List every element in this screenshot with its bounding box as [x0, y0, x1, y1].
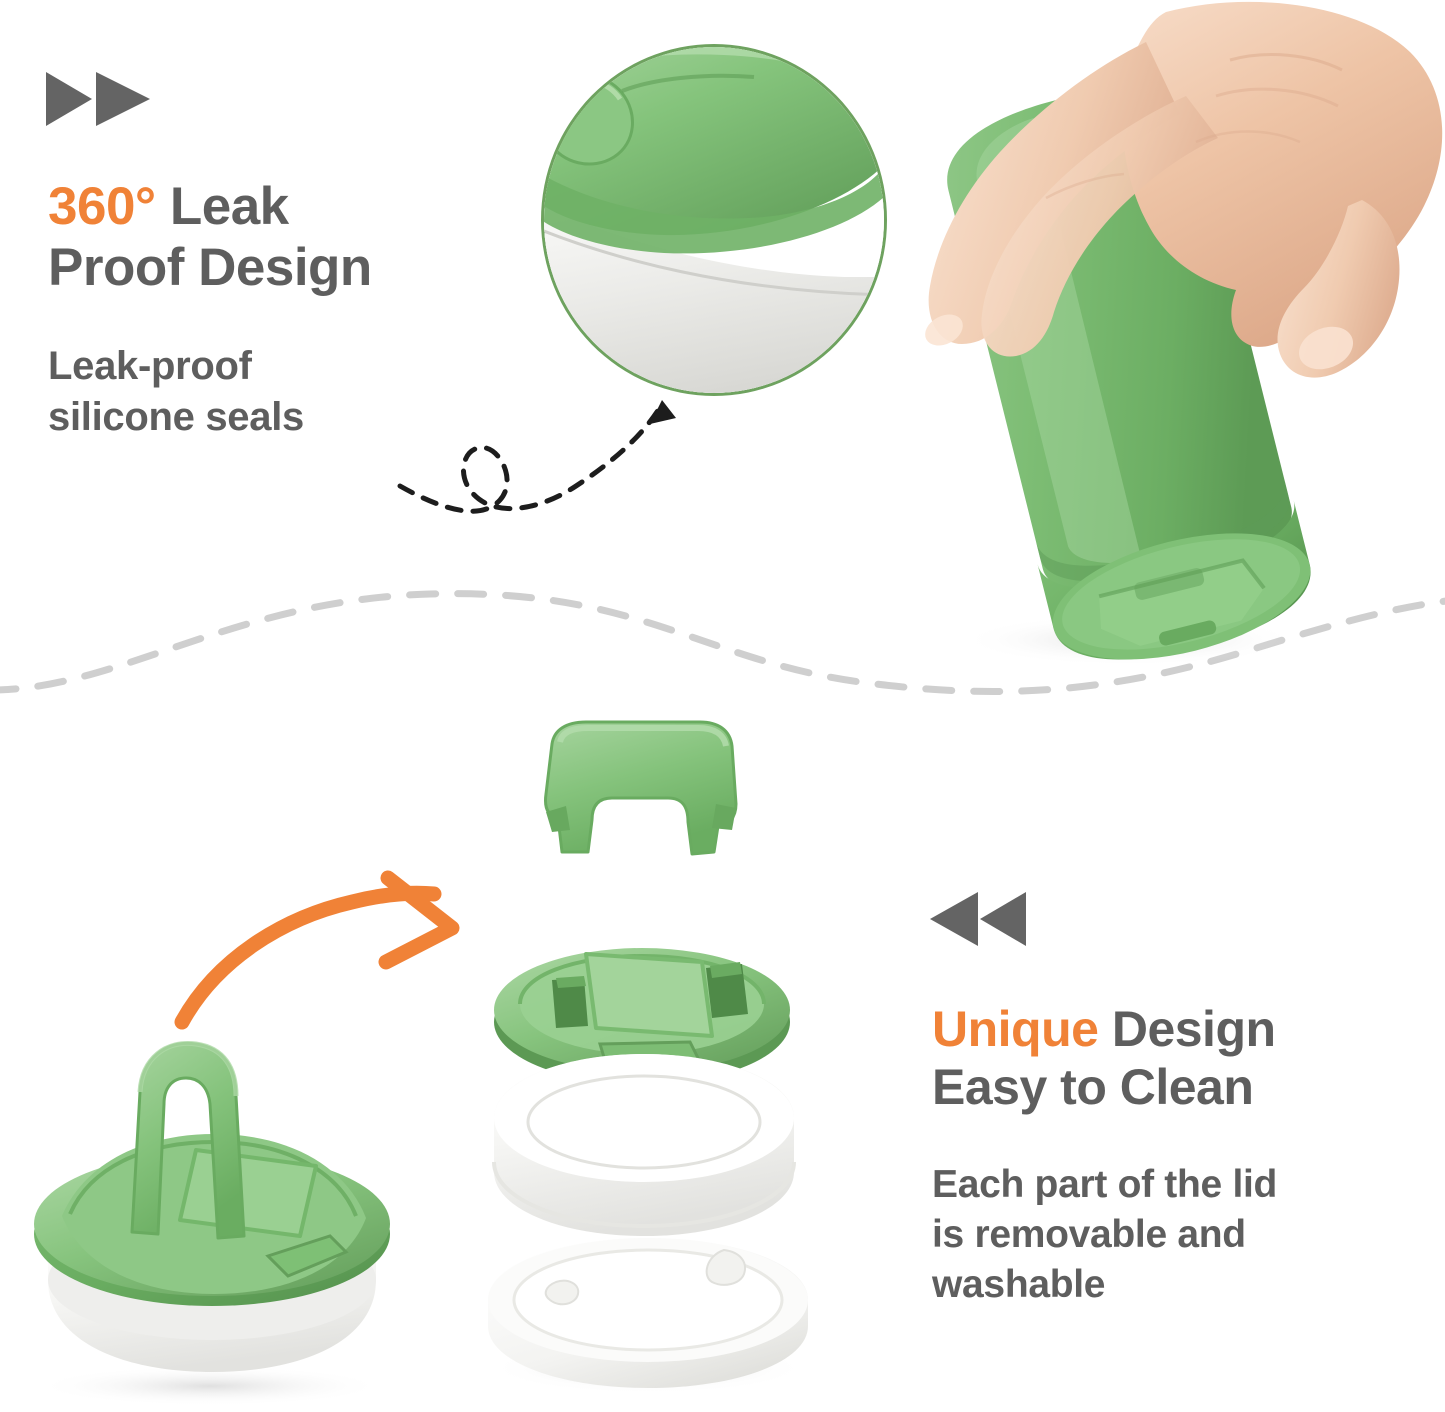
- double-chevron-right-glyph: [46, 70, 152, 128]
- unique-design-text-block: Unique Design Easy to Clean Each part of…: [932, 1000, 1432, 1310]
- unique-headline-accent: Unique: [932, 1001, 1098, 1057]
- closeup-lid-seal-illustration: [544, 47, 884, 393]
- silicone-gasket-part: [488, 1238, 808, 1394]
- lid-disc-part: [494, 948, 790, 1084]
- leakproof-headline-accent: 360°: [48, 177, 156, 236]
- unique-subline-line3: washable: [932, 1260, 1432, 1310]
- unique-subline: Each part of the lid is removable and wa…: [932, 1160, 1432, 1310]
- double-chevron-right-icon: [46, 70, 152, 128]
- leakproof-subline-line2: silicone seals: [48, 392, 518, 443]
- unique-headline-rest: Design: [1098, 1001, 1275, 1057]
- leakproof-headline-rest: Leak: [156, 177, 289, 236]
- double-chevron-left-icon: [922, 890, 1028, 948]
- handle-clip-part: [546, 722, 737, 854]
- leakproof-subline-line1: Leak-proof: [48, 341, 518, 392]
- infographic-canvas: 360° Leak Proof Design Leak-proof silico…: [0, 0, 1445, 1412]
- unique-subline-line2: is removable and: [932, 1210, 1432, 1260]
- hand-with-bottle-illustration: [920, 2, 1442, 683]
- silicone-ring-part: [494, 1054, 794, 1236]
- double-chevron-left-glyph: [922, 890, 1028, 948]
- leakproof-headline: 360° Leak Proof Design: [48, 176, 518, 299]
- closeup-inset-circle: [541, 44, 887, 396]
- unique-headline-line2: Easy to Clean: [932, 1058, 1432, 1116]
- leakproof-text-block: 360° Leak Proof Design Leak-proof silico…: [48, 176, 518, 443]
- hand-illustration: [920, 2, 1442, 378]
- unique-headline: Unique Design Easy to Clean: [932, 1000, 1432, 1116]
- orange-curved-arrow: [182, 878, 452, 1022]
- exploded-lid-parts-illustration: [488, 722, 808, 1394]
- assembled-lid-illustration: [34, 1043, 390, 1406]
- leakproof-headline-line2: Proof Design: [48, 237, 518, 298]
- leakproof-subline: Leak-proof silicone seals: [48, 341, 518, 443]
- unique-subline-line1: Each part of the lid: [932, 1160, 1432, 1210]
